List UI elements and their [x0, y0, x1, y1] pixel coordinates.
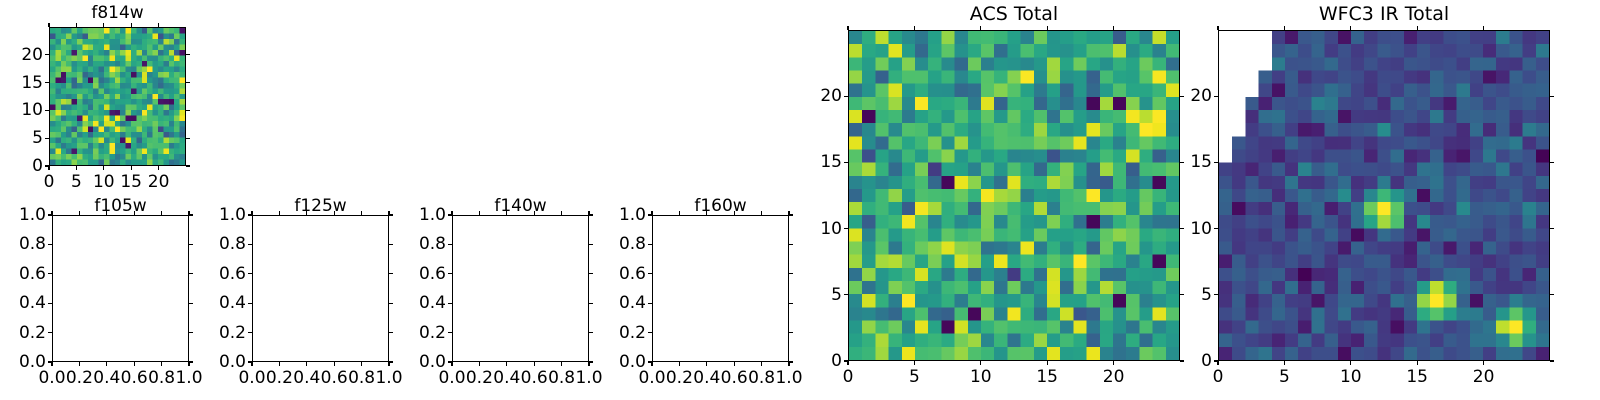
xtick-wfc3_ir_total-4	[1483, 361, 1484, 365]
panel-wfc3_ir_total: WFC3 IR Total0510152005101520	[0, 0, 1600, 400]
ytick-wfc3_ir_total-4	[1214, 96, 1218, 97]
ytick-right-wfc3_ir_total-2	[1550, 228, 1554, 229]
xtick-top-wfc3_ir_total-2	[1350, 26, 1351, 30]
ytick-wfc3_ir_total-0	[1214, 360, 1218, 361]
xtick-label-wfc3_ir_total-3: 15	[1406, 367, 1428, 387]
xtick-top-wfc3_ir_total-1	[1284, 26, 1285, 30]
xtick-top-wfc3_ir_total-4	[1483, 26, 1484, 30]
ytick-label-wfc3_ir_total-2: 10	[1158, 219, 1212, 239]
panel-title-wfc3_ir_total: WFC3 IR Total	[1218, 3, 1550, 25]
xtick-top-wfc3_ir_total-3	[1417, 26, 1418, 30]
xtick-top-wfc3_ir_total-0	[1217, 26, 1218, 30]
ytick-label-wfc3_ir_total-1: 5	[1158, 285, 1212, 305]
ytick-right-wfc3_ir_total-1	[1550, 294, 1554, 295]
xtick-wfc3_ir_total-1	[1284, 361, 1285, 365]
xtick-wfc3_ir_total-2	[1350, 361, 1351, 365]
heatmap-image-wfc3_ir_total	[1219, 31, 1549, 360]
xtick-label-wfc3_ir_total-4: 20	[1473, 367, 1495, 387]
ytick-label-wfc3_ir_total-3: 15	[1158, 152, 1212, 172]
ytick-label-wfc3_ir_total-4: 20	[1158, 86, 1212, 106]
xtick-label-wfc3_ir_total-1: 5	[1279, 367, 1290, 387]
xtick-label-wfc3_ir_total-2: 10	[1340, 367, 1362, 387]
figure-canvas: f814w0510152005101520f105w0.00.20.40.60.…	[0, 0, 1600, 400]
ytick-label-wfc3_ir_total-0: 0	[1158, 351, 1212, 371]
xtick-wfc3_ir_total-3	[1417, 361, 1418, 365]
ytick-wfc3_ir_total-2	[1214, 228, 1218, 229]
ytick-wfc3_ir_total-1	[1214, 294, 1218, 295]
xtick-label-wfc3_ir_total-0: 0	[1213, 367, 1224, 387]
ytick-right-wfc3_ir_total-0	[1550, 360, 1554, 361]
ytick-right-wfc3_ir_total-4	[1550, 96, 1554, 97]
ytick-right-wfc3_ir_total-3	[1550, 162, 1554, 163]
plot-area-wfc3_ir_total	[1218, 30, 1550, 361]
ytick-wfc3_ir_total-3	[1214, 162, 1218, 163]
